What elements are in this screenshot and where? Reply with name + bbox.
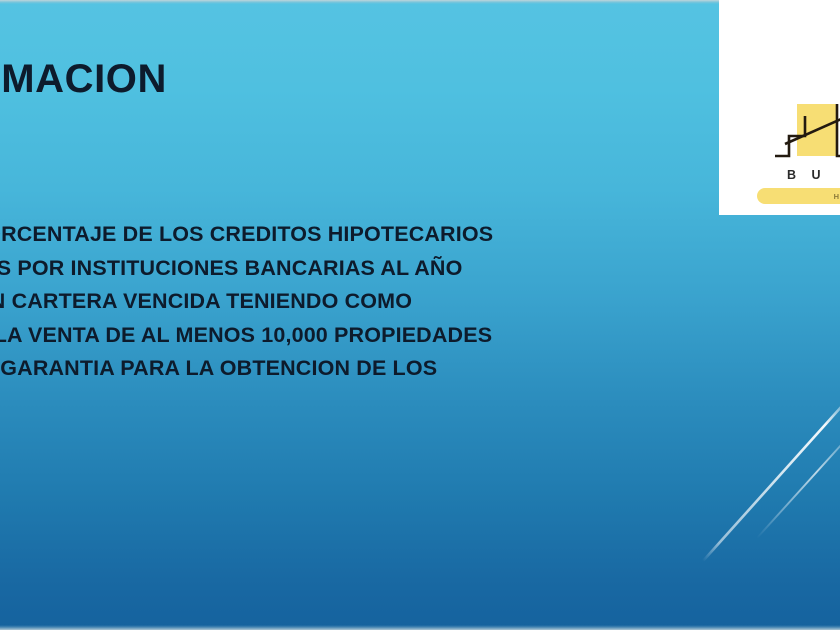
body-line: DITOS. bbox=[0, 386, 840, 420]
logo-wordmark: B U bbox=[775, 168, 840, 182]
body-line: INAN EN CARTERA VENCIDA TENIENDO COMO bbox=[0, 285, 840, 319]
slide-body-text: LTO PORCENTAJE DE LOS CREDITOS HIPOTECAR… bbox=[0, 218, 840, 419]
slide-top-edge-strip bbox=[0, 0, 840, 4]
light-streak-primary bbox=[703, 406, 840, 561]
body-line: TAS EN GARANTIA PARA LA OBTENCION DE LOS bbox=[0, 352, 840, 386]
company-logo: B U Homeb bbox=[775, 104, 840, 212]
body-line: RGADOS POR INSTITUCIONES BANCARIAS AL AÑ… bbox=[0, 252, 840, 286]
presentation-slide: ORMACION LTO PORCENTAJE DE LOS CREDITOS … bbox=[0, 0, 840, 630]
slide-title: ORMACION bbox=[0, 58, 640, 100]
logo-tagline-pill: Homeb bbox=[757, 188, 840, 204]
slide-bottom-edge-strip bbox=[0, 625, 840, 630]
building-stairs-icon bbox=[775, 104, 840, 170]
logo-panel: B U Homeb bbox=[719, 0, 840, 215]
body-line: LTO PORCENTAJE DE LOS CREDITOS HIPOTECAR… bbox=[0, 218, 840, 252]
light-streak-secondary bbox=[757, 444, 840, 538]
logo-tagline: Homeb bbox=[834, 192, 840, 201]
body-line: LTADO LA VENTA DE AL MENOS 10,000 PROPIE… bbox=[0, 319, 840, 353]
